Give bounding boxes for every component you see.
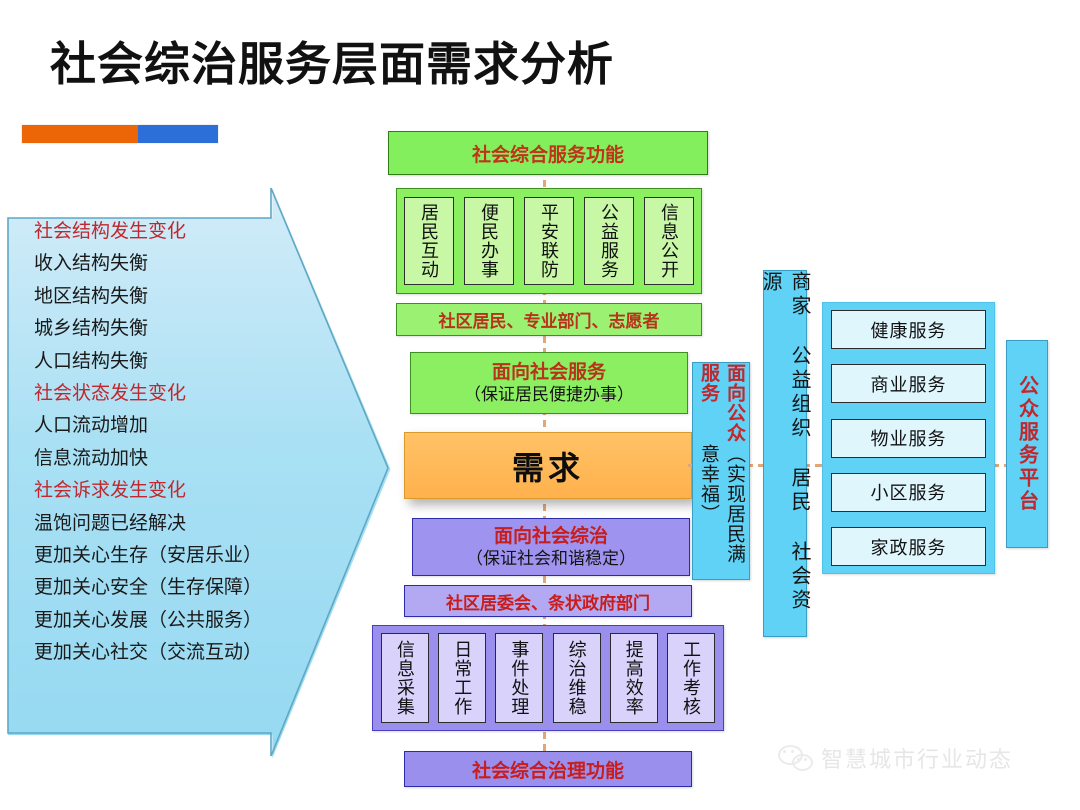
needs-arrow-line: 地区结构失衡 [34, 281, 314, 313]
service-item[interactable]: 家政服务 [831, 527, 986, 566]
service-list-panel: 健康服务商业服务物业服务小区服务家政服务 [822, 302, 995, 574]
service-item[interactable]: 商业服务 [831, 364, 986, 403]
service-cells-panel: 居民互动便民办事平安联防公益服务信息公开 [396, 188, 702, 294]
needs-arrow-line: 社会状态发生变化 [34, 378, 314, 410]
service-item[interactable]: 健康服务 [831, 310, 986, 349]
govern-facing-title: 面向社会综治 [494, 525, 608, 549]
govern-facing-sub: （保证社会和谐稳定） [466, 548, 636, 569]
govern-cell[interactable]: 提高效率 [610, 633, 658, 723]
govern-cell[interactable]: 事件处理 [495, 633, 543, 723]
service-cell[interactable]: 公益服务 [584, 197, 634, 285]
service-function-header[interactable]: 社会综合服务功能 [388, 131, 708, 175]
needs-arrow-line: 信息流动加快 [34, 443, 314, 475]
service-item[interactable]: 小区服务 [831, 473, 986, 512]
govern-function-footer[interactable]: 社会综合治理功能 [404, 751, 692, 787]
govern-cell[interactable]: 工作考核 [667, 633, 715, 723]
needs-arrow-line: 更加关心发展（公共服务） [34, 605, 314, 637]
service-cell[interactable]: 平安联防 [524, 197, 574, 285]
public-service-column[interactable]: 面向公众服务 （实现居民满意幸福） [692, 362, 750, 580]
needs-arrow-line: 温饱问题已经解决 [34, 508, 314, 540]
needs-arrow: 社会结构发生变化收入结构失衡地区结构失衡城乡结构失衡人口结构失衡社会状态发生变化… [6, 186, 390, 762]
needs-arrow-list: 社会结构发生变化收入结构失衡地区结构失衡城乡结构失衡人口结构失衡社会状态发生变化… [34, 216, 314, 670]
needs-arrow-line: 人口结构失衡 [34, 346, 314, 378]
govern-cells-panel: 信息采集日常工作事件处理综治维稳提高效率工作考核 [372, 625, 724, 731]
service-cell[interactable]: 信息公开 [644, 197, 694, 285]
service-facing-box[interactable]: 面向社会服务 （保证居民便捷办事） [410, 352, 688, 414]
service-item[interactable]: 物业服务 [831, 419, 986, 458]
needs-arrow-line: 更加关心生存（安居乐业） [34, 540, 314, 572]
public-service-platform-column[interactable]: 公众服务平台 [1006, 340, 1048, 548]
service-facing-title: 面向社会服务 [492, 361, 606, 385]
page-title: 社会综治服务层面需求分析 [50, 36, 614, 92]
govern-facing-box[interactable]: 面向社会综治 （保证社会和谐稳定） [412, 518, 690, 576]
watermark: 智慧城市行业动态 [778, 742, 1013, 774]
govern-actors-bar[interactable]: 社区居委会、条状政府部门 [404, 585, 692, 617]
govern-cell[interactable]: 信息采集 [381, 633, 429, 723]
accent-bar [22, 125, 218, 143]
service-actors-bar[interactable]: 社区居民、专业部门、志愿者 [396, 303, 702, 336]
service-cell[interactable]: 居民互动 [404, 197, 454, 285]
needs-arrow-line: 社会诉求发生变化 [34, 475, 314, 507]
watermark-text: 智慧城市行业动态 [821, 742, 1013, 774]
govern-cell[interactable]: 综治维稳 [553, 633, 601, 723]
needs-arrow-line: 城乡结构失衡 [34, 313, 314, 345]
service-cell[interactable]: 便民办事 [464, 197, 514, 285]
needs-arrow-line: 人口流动增加 [34, 410, 314, 442]
needs-arrow-line: 更加关心安全（生存保障） [34, 572, 314, 604]
public-service-title: 面向公众服务 [695, 363, 747, 444]
accent-bar-orange [22, 125, 138, 143]
needs-arrow-line: 收入结构失衡 [34, 248, 314, 280]
public-actors-column[interactable]: 商家 公益组织 居民 社会资源 [763, 270, 807, 637]
need-box[interactable]: 需求 [404, 432, 692, 499]
govern-cell[interactable]: 日常工作 [438, 633, 486, 723]
needs-arrow-line: 社会结构发生变化 [34, 216, 314, 248]
public-service-sub: （实现居民满意幸福） [695, 444, 747, 579]
accent-bar-blue [138, 125, 218, 143]
diagram-canvas: 社会综治服务层面需求分析 社会结构发生变化收入结构失衡地区结构失衡城乡结构失衡人… [0, 0, 1080, 810]
needs-arrow-line: 更加关心社交（交流互动） [34, 637, 314, 669]
wechat-icon [778, 745, 812, 771]
service-facing-sub: （保证居民便捷办事） [464, 384, 634, 405]
